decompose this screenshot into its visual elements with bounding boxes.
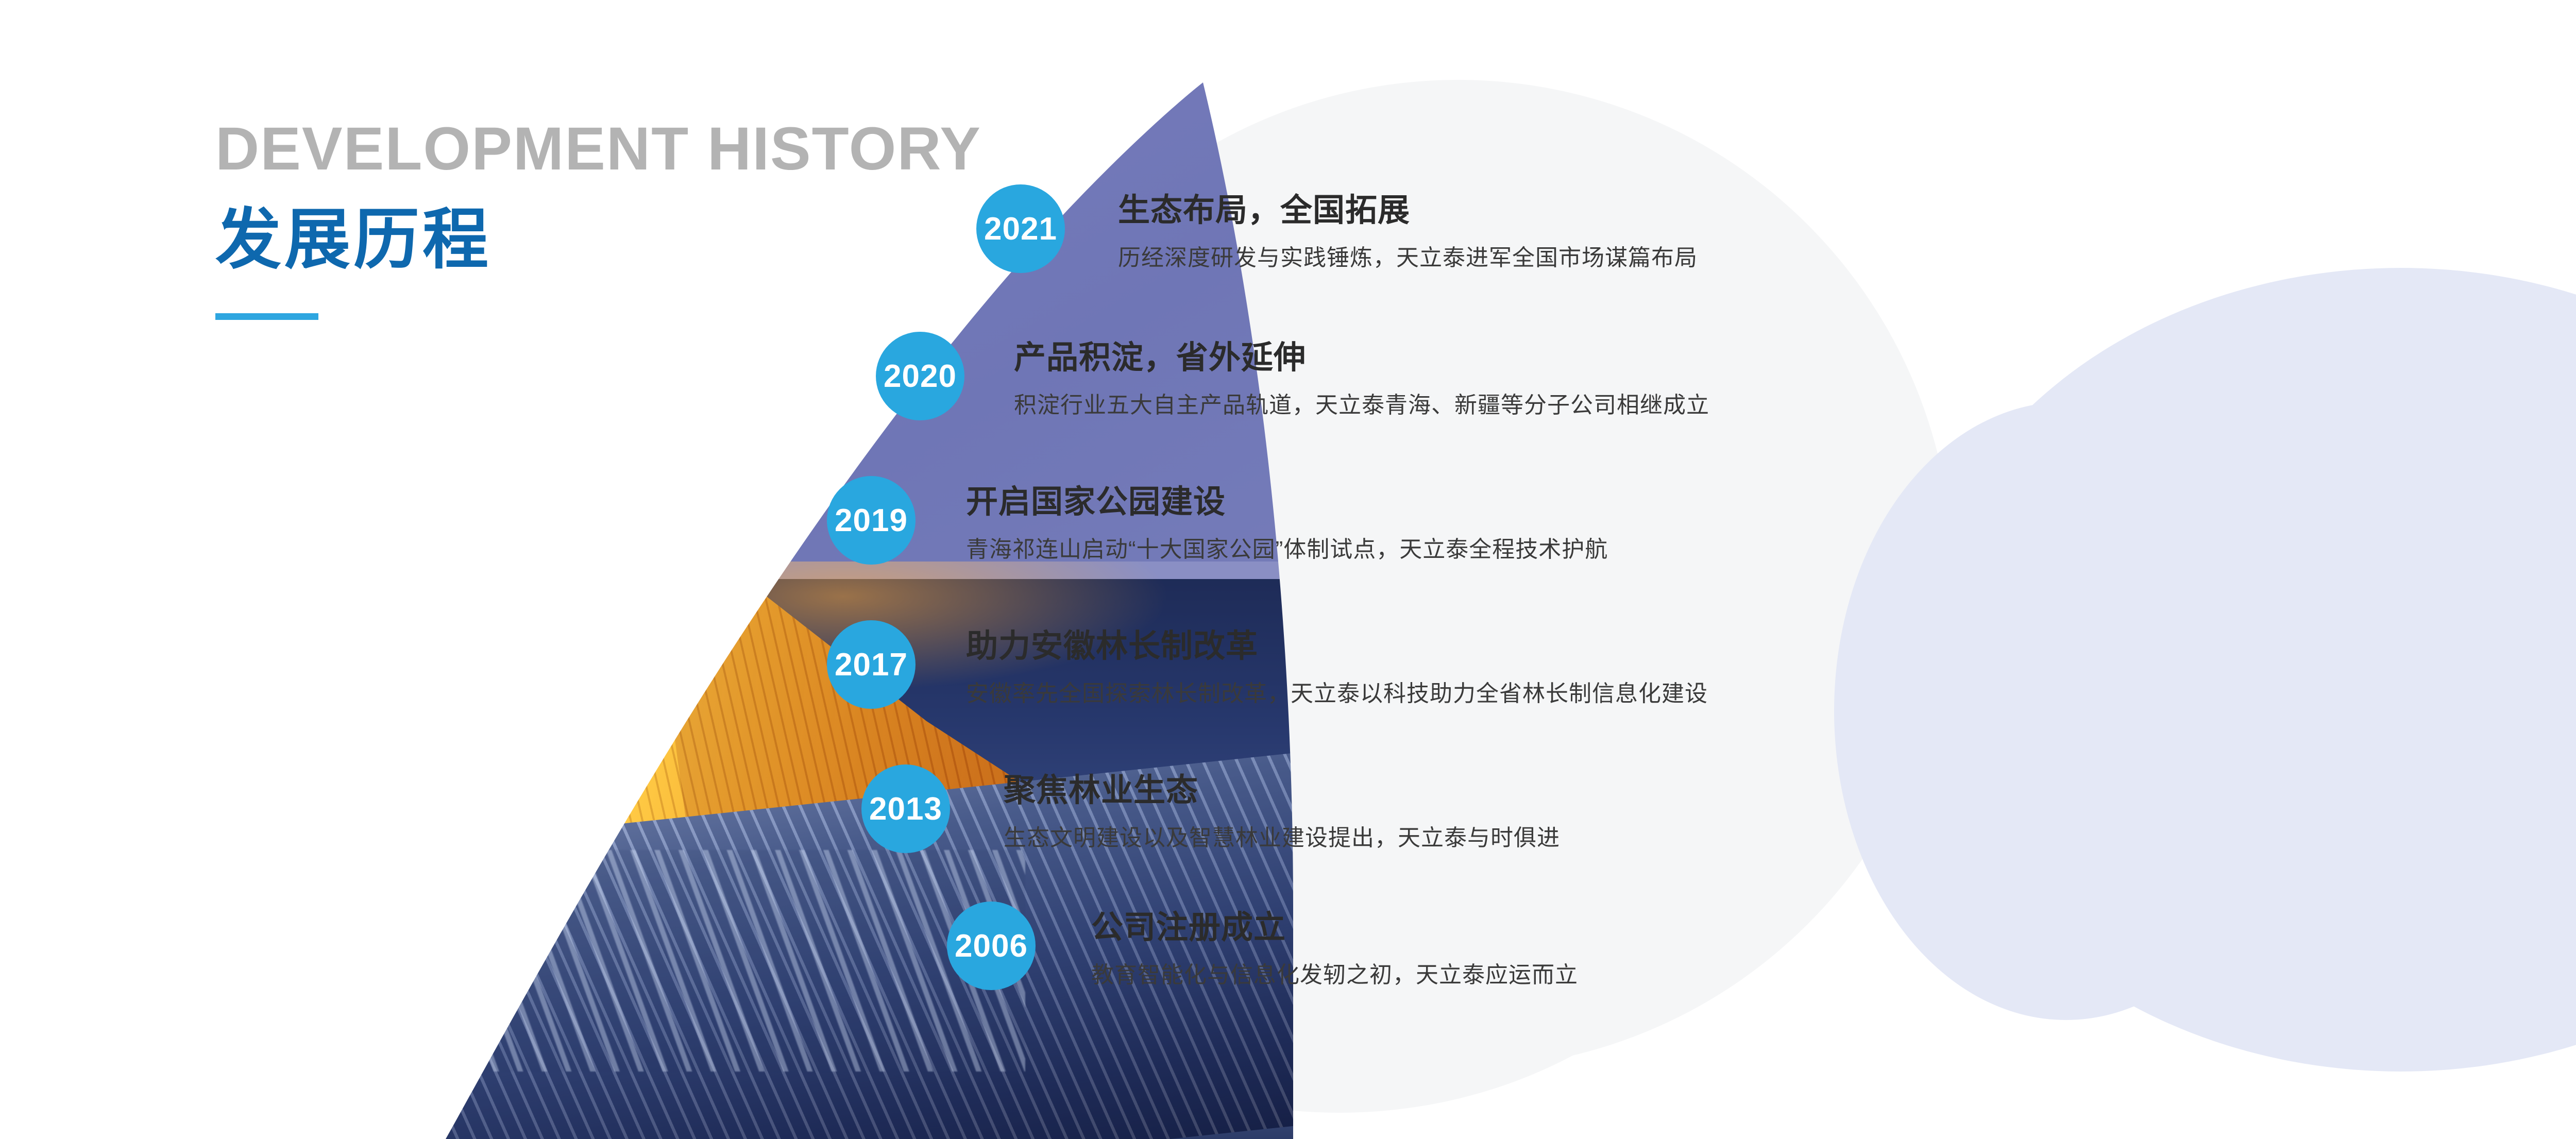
timeline-text: 产品积淀，省外延伸 积淀行业五大自主产品轨道，天立泰青海、新疆等分子公司相继成立: [1014, 339, 1709, 420]
timeline-desc: 安徽率先全国探索林长制改革，天立泰以科技助力全省林长制信息化建设: [966, 679, 1708, 708]
timeline-text: 聚焦林业生态 生态文明建设以及智慧林业建设提出，天立泰与时俱进: [1004, 772, 1560, 853]
timeline-title: 生态布局，全国拓展: [1118, 192, 1698, 230]
timeline-year-badge[interactable]: 2019: [827, 476, 916, 565]
timeline-text: 开启国家公园建设 青海祁连山启动“十大国家公园”体制试点，天立泰全程技术护航: [966, 483, 1608, 565]
slide-root: DEVELOPMENT HISTORY 发展历程 2021 生态布局，全国拓展 …: [0, 0, 2576, 1139]
timeline-title: 助力安徽林长制改革: [966, 627, 1708, 666]
timeline-text: 生态布局，全国拓展 历经深度研发与实践锤炼，天立泰进军全国市场谋篇布局: [1118, 192, 1698, 273]
timeline-title: 产品积淀，省外延伸: [1014, 339, 1709, 377]
timeline-year-badge[interactable]: 2020: [876, 332, 964, 420]
timeline-text: 公司注册成立 教育智能化与信息化发轫之初，天立泰应运而立: [1091, 909, 1578, 990]
timeline-title: 公司注册成立: [1091, 909, 1578, 947]
timeline-year-badge[interactable]: 2013: [861, 764, 950, 853]
timeline-year-badge[interactable]: 2021: [976, 184, 1065, 273]
timeline-desc: 生态文明建设以及智慧林业建设提出，天立泰与时俱进: [1004, 823, 1560, 853]
timeline-desc: 历经深度研发与实践锤炼，天立泰进军全国市场谋篇布局: [1118, 243, 1698, 273]
timeline-text: 助力安徽林长制改革 安徽率先全国探索林长制改革，天立泰以科技助力全省林长制信息化…: [966, 627, 1708, 709]
timeline-year-badge[interactable]: 2017: [827, 620, 916, 709]
timeline-title: 开启国家公园建设: [966, 483, 1608, 521]
timeline-year-badge[interactable]: 2006: [947, 902, 1036, 990]
timeline-desc: 教育智能化与信息化发轫之初，天立泰应运而立: [1091, 960, 1578, 990]
timeline-desc: 积淀行业五大自主产品轨道，天立泰青海、新疆等分子公司相继成立: [1014, 390, 1709, 420]
timeline-desc: 青海祁连山启动“十大国家公园”体制试点，天立泰全程技术护航: [966, 535, 1608, 564]
slogan: 立天地 诺泰山 共赢科技未来: [2076, 278, 2576, 798]
timeline-title: 聚焦林业生态: [1004, 772, 1560, 810]
